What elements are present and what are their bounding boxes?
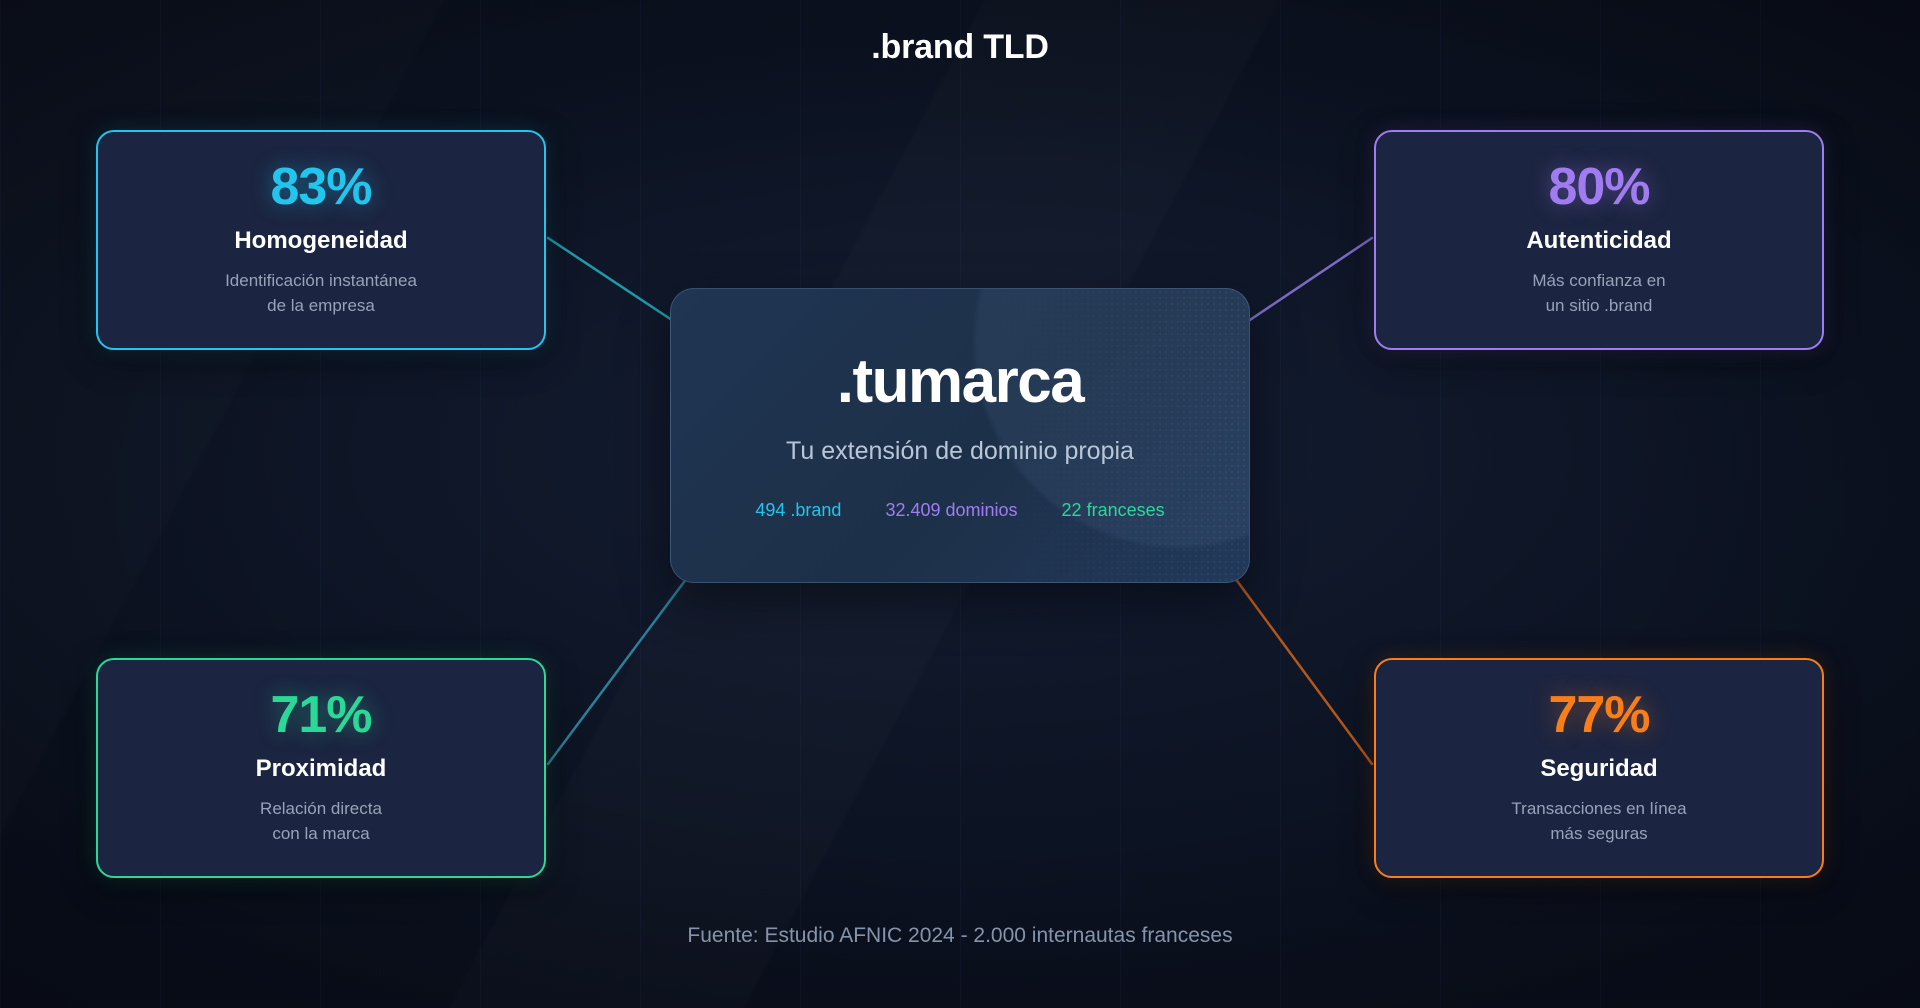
stat-desc-line2: con la marca — [272, 824, 369, 843]
center-stat-french: 22 franceses — [1062, 500, 1165, 521]
stat-percent: 80% — [1548, 161, 1649, 213]
source-note: Fuente: Estudio AFNIC 2024 - 2.000 inter… — [0, 924, 1920, 948]
stat-description: Más confianza en un sitio .brand — [1532, 269, 1665, 318]
center-stats-row: 494 .brand 32.409 dominios 22 franceses — [755, 500, 1164, 521]
stat-title: Autenticidad — [1526, 227, 1671, 255]
stat-card-proximidad[interactable]: 71% Proximidad Relación directa con la m… — [96, 658, 546, 878]
stat-title: Seguridad — [1540, 755, 1657, 783]
stat-desc-line1: Más confianza en — [1532, 271, 1665, 290]
center-subtitle: Tu extensión de dominio propia — [786, 437, 1134, 466]
connector-seguridad — [1232, 574, 1372, 764]
stat-description: Identificación instantánea de la empresa — [225, 269, 417, 318]
center-domain-name: .tumarca — [837, 351, 1083, 413]
stat-title: Homogeneidad — [234, 227, 407, 255]
stat-title: Proximidad — [256, 755, 387, 783]
stat-card-homogeneidad[interactable]: 83% Homogeneidad Identificación instantá… — [96, 130, 546, 350]
stat-desc-line2: de la empresa — [267, 296, 375, 315]
connector-proximidad — [548, 574, 690, 764]
stat-desc-line1: Transacciones en línea — [1511, 799, 1686, 818]
connector-homogeneidad — [548, 238, 690, 332]
center-card-tumarca[interactable]: .tumarca Tu extensión de dominio propia … — [670, 288, 1250, 583]
stat-percent: 77% — [1548, 689, 1649, 741]
stat-desc-line2: un sitio .brand — [1546, 296, 1653, 315]
stat-desc-line1: Relación directa — [260, 799, 382, 818]
center-stat-domains: 32.409 dominios — [885, 500, 1017, 521]
stat-card-autenticidad[interactable]: 80% Autenticidad Más confianza en un sit… — [1374, 130, 1824, 350]
stat-desc-line1: Identificación instantánea — [225, 271, 417, 290]
connector-autenticidad — [1232, 238, 1372, 332]
stat-percent: 83% — [270, 161, 371, 213]
stat-description: Relación directa con la marca — [260, 797, 382, 846]
stat-card-seguridad[interactable]: 77% Seguridad Transacciones en línea más… — [1374, 658, 1824, 878]
stat-percent: 71% — [270, 689, 371, 741]
center-stat-brand: 494 .brand — [755, 500, 841, 521]
stat-description: Transacciones en línea más seguras — [1511, 797, 1686, 846]
page-title: .brand TLD — [0, 28, 1920, 67]
stat-desc-line2: más seguras — [1550, 824, 1647, 843]
